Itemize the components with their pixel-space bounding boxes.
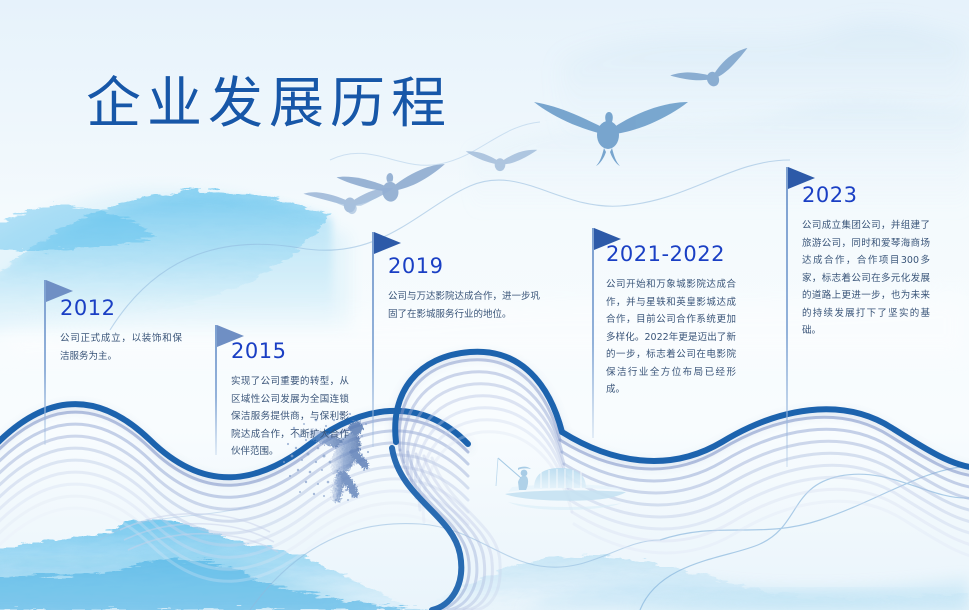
milestone-description: 实现了公司重要的转型，从区域性公司发展为全国连锁保洁服务提供商，与保利影院达成合… [231, 373, 349, 461]
page-title: 企业发展历程 [86, 58, 452, 138]
milestone-year: 2023 [802, 183, 857, 207]
poster-canvas: 企业发展历程 2012 公司正式成立，以装饰和保洁服务为主。 2015 实现了公… [0, 0, 969, 610]
flag-pole [372, 232, 374, 447]
milestone-year: 2012 [60, 296, 115, 320]
milestone-description: 公司正式成立，以装饰和保洁服务为主。 [60, 330, 182, 365]
flag-pole [786, 167, 788, 467]
milestone-year: 2019 [388, 254, 443, 278]
milestone-description: 公司成立集团公司，并组建了旅游公司，同时和爱琴海商场达成合作，合作项目300多家… [802, 217, 930, 340]
flag-pole [44, 280, 46, 445]
milestone-description: 公司开始和万象城影院达成合作，并与星轶和英皇影城达成合作，目前公司合作系统更加多… [606, 276, 736, 399]
flag-pole [592, 228, 594, 438]
milestone-year: 2015 [231, 339, 286, 363]
milestone-year: 2021-2022 [606, 242, 725, 266]
flag-pennant-icon [374, 232, 401, 254]
milestone-description: 公司与万达影院达成合作，进一步巩固了在影城服务行业的地位。 [388, 288, 540, 323]
